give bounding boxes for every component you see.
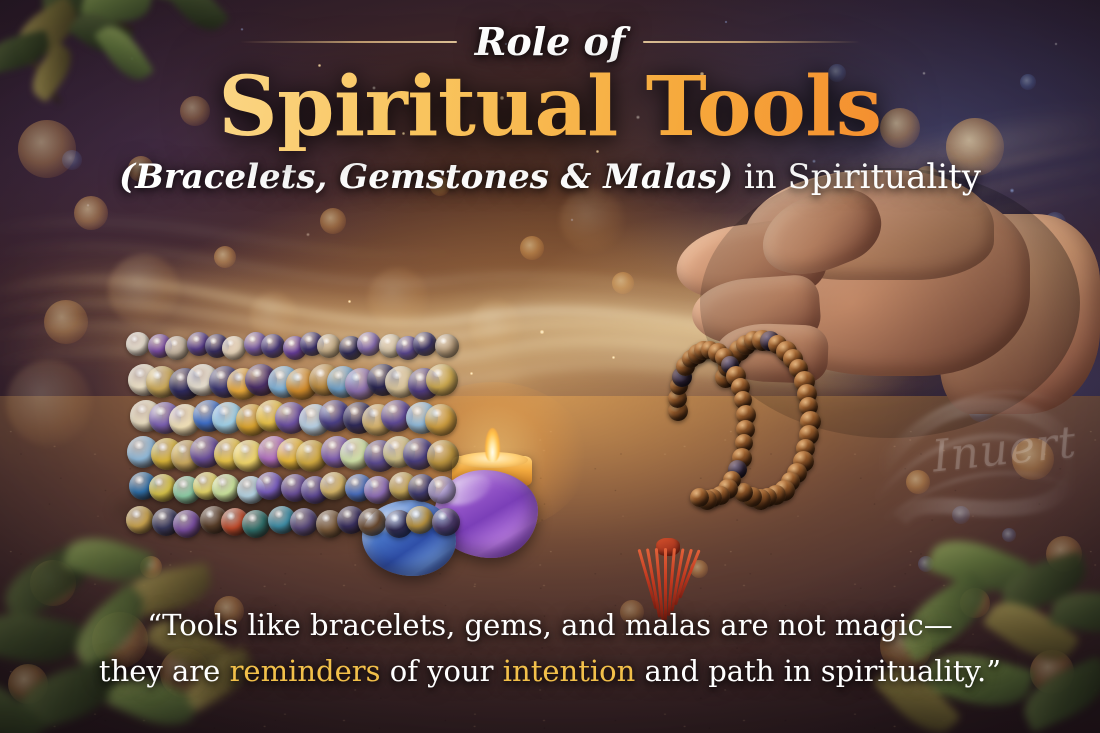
- quote-seg-2: of your: [381, 654, 503, 688]
- quote-block: “Tools like bracelets, gems, and malas a…: [0, 603, 1100, 695]
- rudraksha-mala-beads: [640, 300, 960, 630]
- title-block: Role of Spiritual Tools (Bracelets, Gems…: [0, 22, 1100, 198]
- bracelet-bead: [427, 440, 459, 472]
- bracelet-bead: [290, 508, 318, 536]
- quote-seg-3: and path in spirituality.”: [635, 654, 1001, 688]
- bracelet-bead: [432, 508, 460, 536]
- decorative-rule-left: [240, 41, 457, 43]
- eyebrow-text: Role of: [475, 22, 625, 62]
- quote-highlight-intention: intention: [503, 654, 636, 688]
- bracelet-bead: [435, 334, 459, 358]
- quote-seg-1: they are: [99, 654, 230, 688]
- eyebrow-row: Role of: [240, 22, 860, 62]
- bracelet-bead: [126, 332, 150, 356]
- bracelet-bead: [425, 404, 457, 436]
- bracelet-bead: [413, 332, 437, 356]
- tassel-knot: [656, 538, 680, 556]
- stacked-gemstone-bracelets: [128, 326, 458, 556]
- bracelet-bead: [406, 506, 434, 534]
- headline-text: Spiritual Tools: [0, 64, 1100, 151]
- spiritual-tools-banner: Inuert Role of Spiritual Tools (Bracelet…: [0, 0, 1100, 733]
- bracelet-bead: [426, 364, 458, 396]
- bracelet-bead: [165, 336, 189, 360]
- quote-line-1: “Tools like bracelets, gems, and malas a…: [0, 603, 1100, 649]
- candle-flame: [485, 428, 500, 462]
- subheadline-plain-part: in Spirituality: [733, 157, 981, 197]
- quote-line-2: they are reminders of your intention and…: [0, 649, 1100, 695]
- bracelet-bead: [242, 510, 270, 538]
- subheadline-italic-part: (Bracelets, Gemstones & Malas): [119, 157, 733, 197]
- quote-highlight-reminders: reminders: [230, 654, 381, 688]
- bracelet-bead: [428, 476, 456, 504]
- subheadline: (Bracelets, Gemstones & Malas) in Spirit…: [0, 157, 1100, 198]
- bracelet-bead: [357, 332, 381, 356]
- bracelet-bead: [261, 334, 285, 358]
- bracelet-bead: [222, 336, 246, 360]
- bracelet-bead: [317, 334, 341, 358]
- decorative-rule-right: [643, 41, 860, 43]
- bracelet-bead: [320, 472, 348, 500]
- bracelet-bead: [126, 506, 154, 534]
